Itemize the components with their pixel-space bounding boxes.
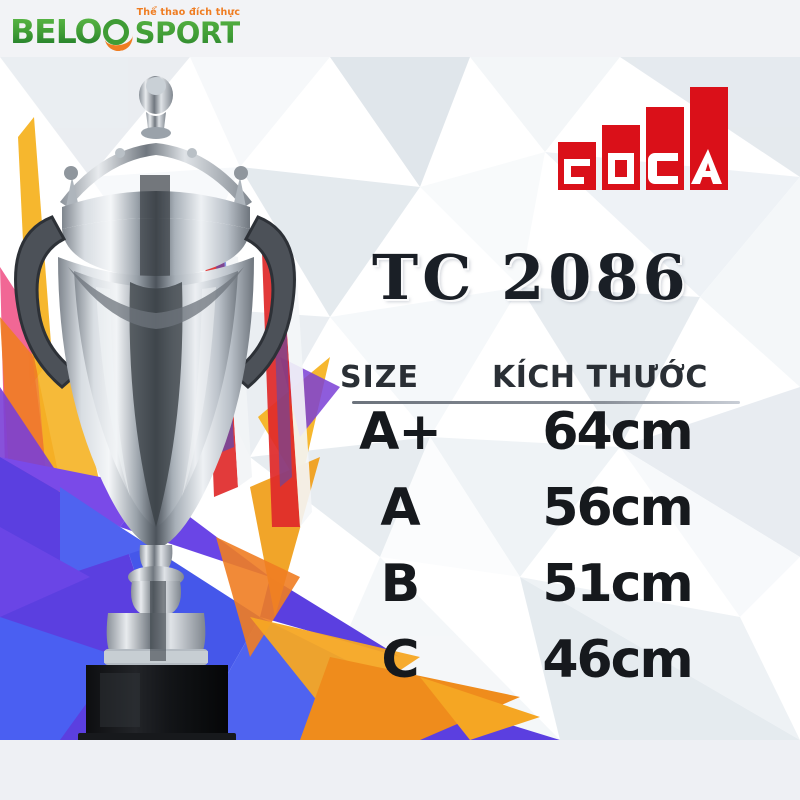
cell-measurement: 46cm	[460, 634, 760, 686]
cell-size: B	[340, 558, 460, 610]
table-row: C 46cm	[340, 634, 760, 710]
cell-measurement: 56cm	[460, 482, 760, 534]
size-spec-table: SIZE KÍCH THƯỚC A+ 64cm A 56cm B 51cm	[340, 360, 760, 710]
bottom-spacer	[0, 740, 800, 800]
belo-sport-logo[interactable]: BELO Thể thao đích thực SPORT	[10, 8, 240, 48]
table-header-row: SIZE KÍCH THƯỚC	[340, 360, 760, 395]
cell-size: C	[340, 634, 460, 686]
logo-tagline: Thể thao đích thực	[137, 7, 241, 18]
logo-text-sport: SPORT	[135, 16, 240, 50]
brand-logo-bar: BELO Thể thao đích thực SPORT	[0, 0, 800, 57]
cell-measurement: 64cm	[460, 406, 760, 458]
logo-right-group: Thể thao đích thực SPORT	[135, 19, 240, 48]
logo-o-swoosh-icon	[103, 14, 133, 48]
cell-size: A+	[340, 406, 460, 458]
product-image-card: BELO Thể thao đích thực SPORT	[0, 0, 800, 800]
logo-text-belo: BELO	[10, 15, 102, 48]
product-photo: TC 2086 SIZE KÍCH THƯỚC A+ 64cm A 56cm B	[0, 57, 800, 740]
table-row: A+ 64cm	[340, 406, 760, 482]
cell-size: A	[340, 482, 460, 534]
header-size: SIZE	[340, 360, 460, 395]
cell-measurement: 51cm	[460, 558, 760, 610]
table-row: A 56cm	[340, 482, 760, 558]
product-model-title: TC 2086	[372, 247, 690, 309]
toca-logo[interactable]	[556, 87, 746, 192]
table-body: A+ 64cm A 56cm B 51cm C 46cm	[340, 406, 760, 710]
table-row: B 51cm	[340, 558, 760, 634]
header-measurement: KÍCH THƯỚC	[460, 360, 760, 395]
